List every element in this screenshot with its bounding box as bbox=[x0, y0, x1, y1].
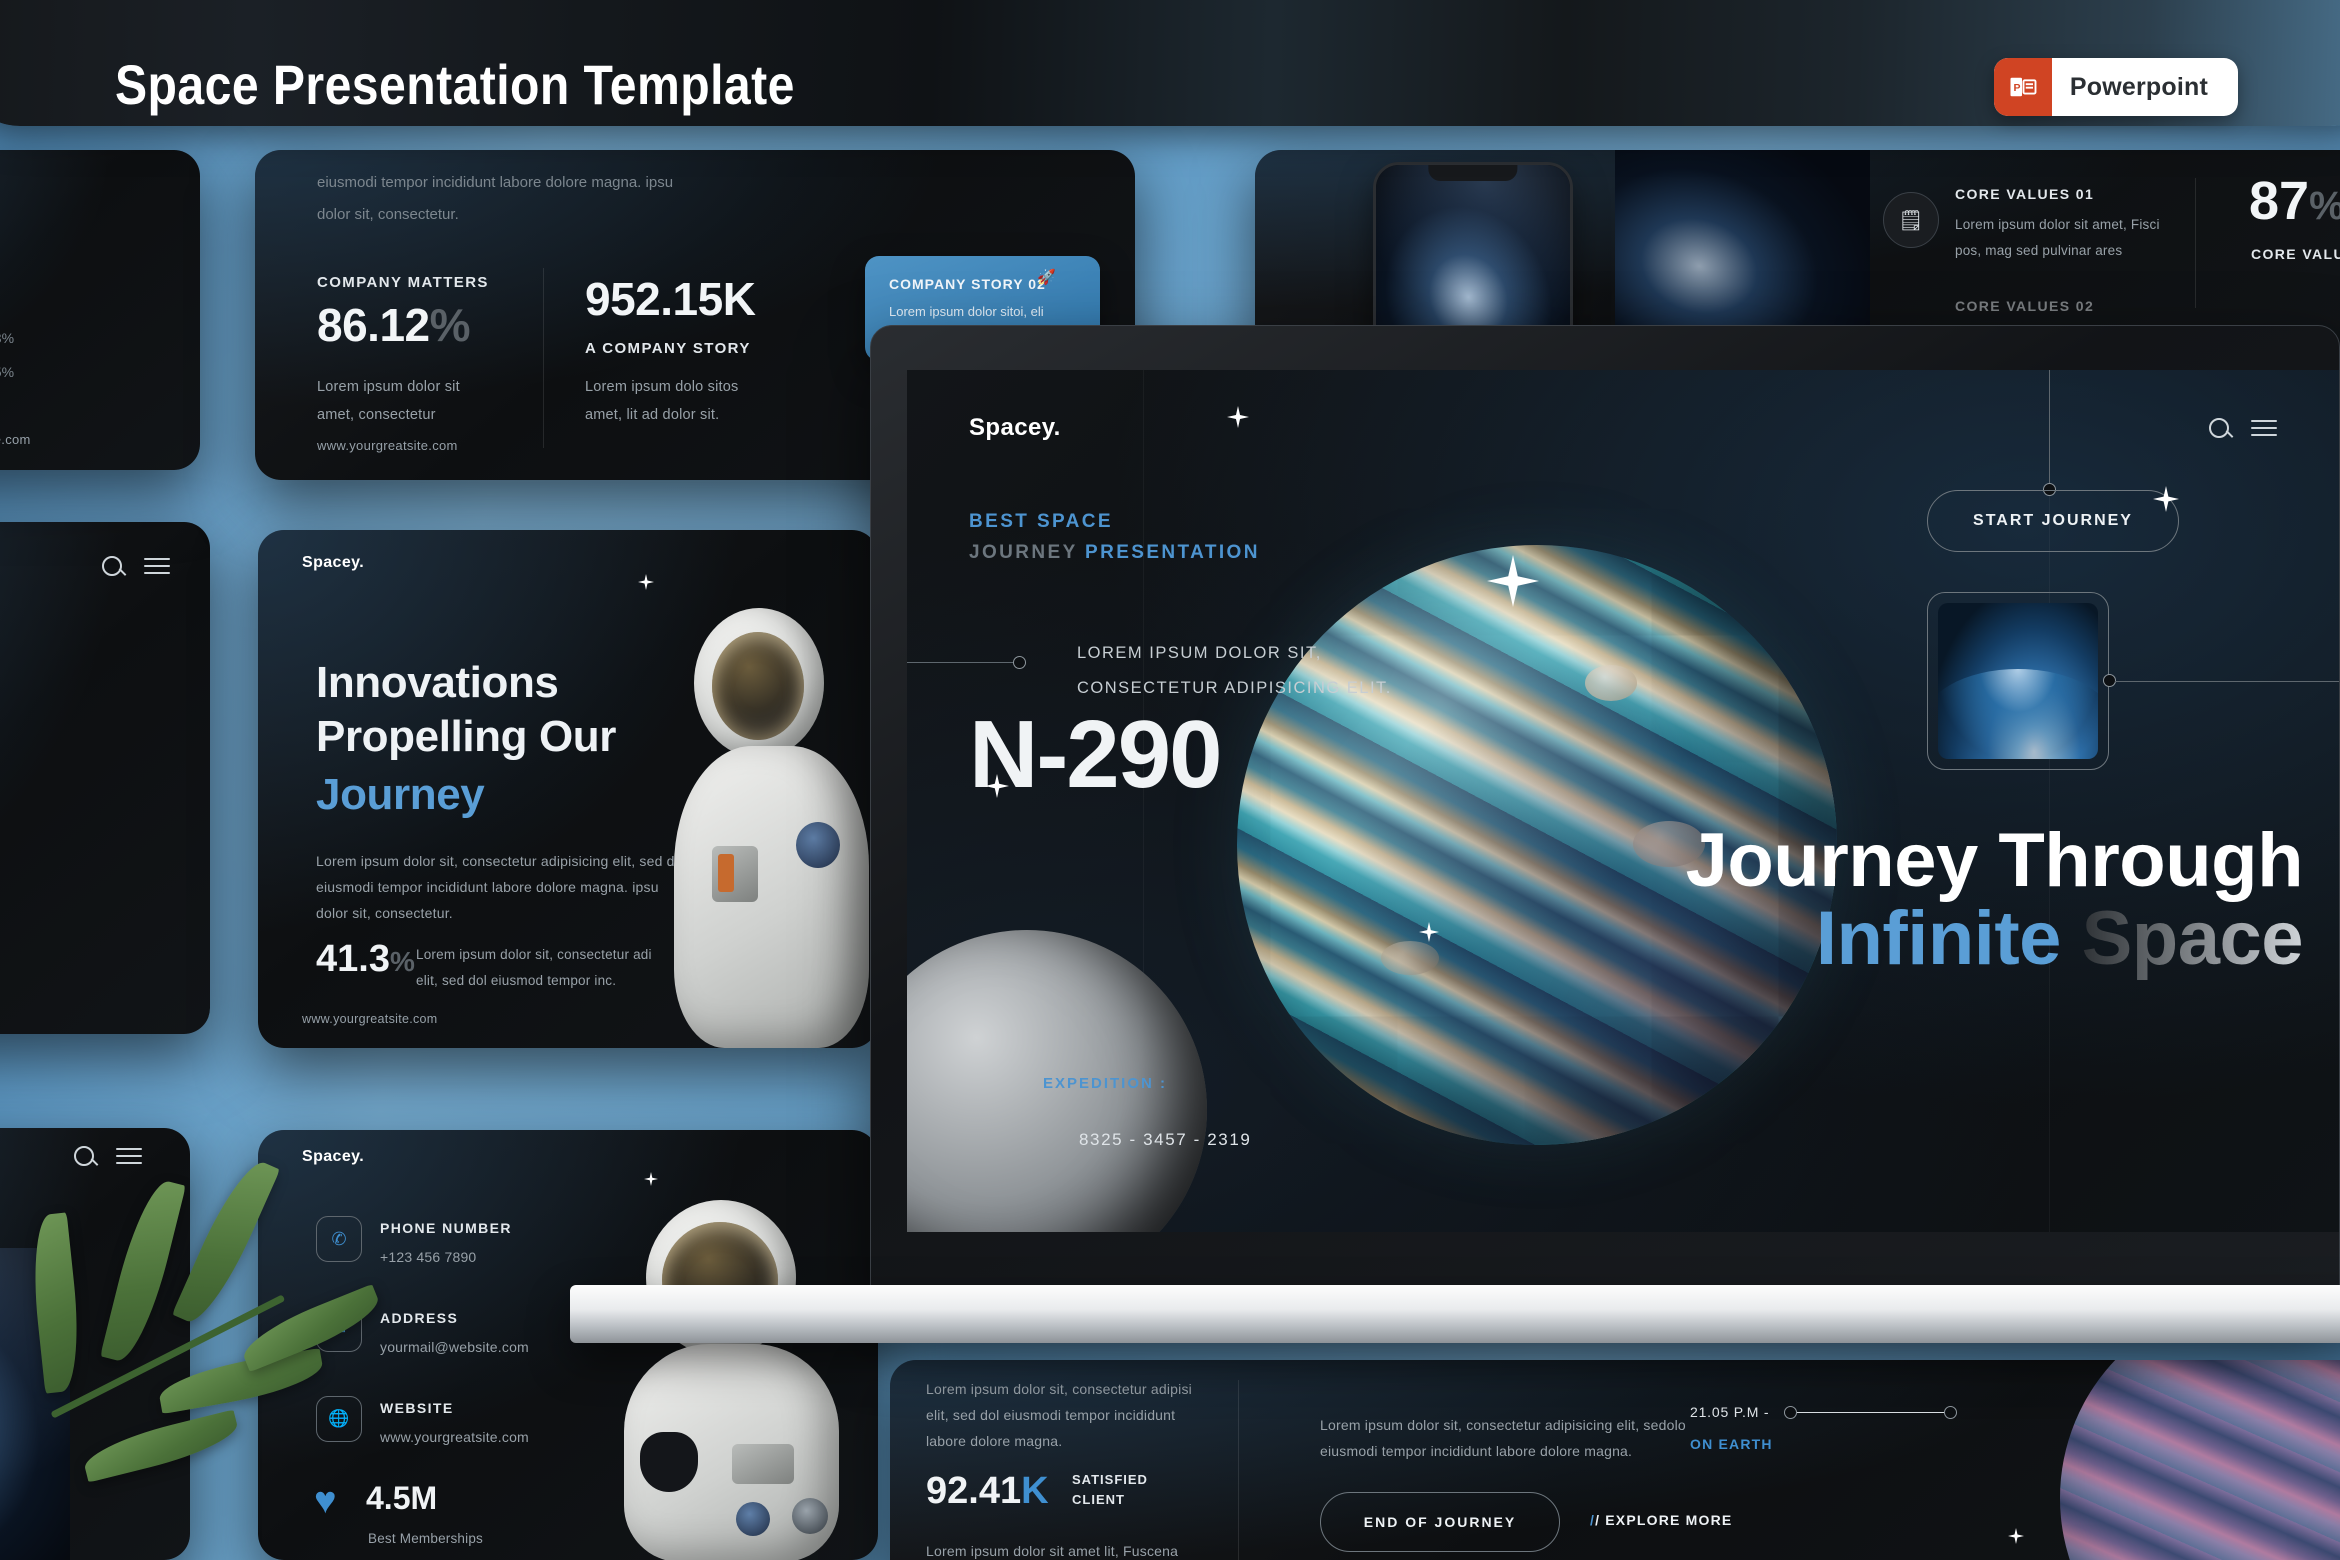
company-divider bbox=[543, 268, 544, 448]
hero-kicker-presentation: PRESENTATION bbox=[1085, 542, 1260, 563]
powerpoint-badge[interactable]: P Powerpoint bbox=[1994, 58, 2238, 116]
mission-bar-value-2: 65% bbox=[0, 364, 14, 380]
hero-lorem-line1: LOREM IPSUM DOLOR SIT, bbox=[1077, 636, 1392, 671]
company-story-sub-2: amet, lit ad dolor sit. bbox=[585, 402, 719, 430]
blue-card-sub-1: Lorem ipsum dolor sitoi, eli bbox=[889, 304, 1044, 319]
hamburger-menu-icon[interactable] bbox=[144, 558, 170, 574]
document-icon-circle[interactable]: 🗒 bbox=[1883, 192, 1939, 248]
innovations-title-2: Propelling Our bbox=[316, 712, 616, 762]
hero-kicker-line1: BEST SPACE bbox=[969, 506, 1260, 537]
company-website[interactable]: www.yourgreatsite.com bbox=[317, 438, 458, 453]
phone-notch bbox=[1428, 165, 1517, 181]
mission-bar-value-1: 83% bbox=[0, 330, 14, 346]
core-values-03-value: 87% bbox=[2249, 170, 2340, 232]
slide-gallery[interactable]: 🗒 CORE VALUES 01 Lorem ipsum dolor sit a… bbox=[1255, 150, 2340, 350]
company-story-sub-1: Lorem ipsum dolo sitos bbox=[585, 374, 739, 402]
end-left-lorem-3: labore dolore magna. bbox=[926, 1428, 1062, 1455]
innovations-title-1: Innovations bbox=[316, 658, 559, 708]
mail-icon-box: ✉ bbox=[316, 1306, 362, 1352]
hero-kicker-line2: JOURNEY PRESENTATION bbox=[969, 537, 1260, 568]
hero-lorem: LOREM IPSUM DOLOR SIT, CONSECTETUR ADIPI… bbox=[1077, 636, 1392, 705]
slide-mission[interactable]: orem ipsum dolor sit, 6.12K PANY MISSION… bbox=[0, 150, 200, 470]
company-matters-number: 86.12 bbox=[317, 299, 430, 351]
contact-label-2: WEBSITE bbox=[380, 1400, 454, 1416]
planet-pink-image bbox=[2060, 1360, 2340, 1560]
core-values-03-label: CORE VALUES 03 bbox=[2251, 246, 2340, 262]
innovations-stat-sub-2: elit, sed dol eiusmod tempor inc. bbox=[416, 968, 616, 994]
hero-title-infinite: Infinite bbox=[1816, 896, 2061, 981]
hero-slide[interactable]: Spacey. BEST SPACE JOURNEY PRESENTATION bbox=[907, 370, 2339, 1232]
star-icon bbox=[1419, 922, 1439, 942]
end-divider bbox=[1238, 1380, 1239, 1560]
galaxy-nav-icons[interactable] bbox=[74, 1146, 142, 1166]
hero-kicker: BEST SPACE JOURNEY PRESENTATION bbox=[969, 506, 1260, 569]
search-icon[interactable] bbox=[102, 556, 122, 576]
core-values-01-label: CORE VALUES 01 bbox=[1955, 186, 2094, 202]
rocket-icon: 🚀 bbox=[1037, 268, 1056, 286]
star-icon bbox=[638, 574, 654, 590]
core-divider bbox=[2195, 178, 2196, 308]
company-story-number: 952.15 bbox=[585, 273, 723, 325]
hero-expedition-label: EXPEDITION : bbox=[1043, 1075, 1167, 1092]
star-icon bbox=[1487, 555, 1539, 607]
end-of-journey-button[interactable]: END OF JOURNEY bbox=[1320, 1492, 1560, 1552]
hero-title: Journey Through Infinite Space bbox=[1686, 822, 2303, 977]
earth-thumbnail-card[interactable] bbox=[1927, 592, 2109, 770]
company-matters-label: COMPANY MATTERS bbox=[317, 274, 489, 291]
hero-logo: Spacey. bbox=[969, 414, 1061, 442]
innovations-stat: 41.3% bbox=[316, 938, 415, 981]
page-title: Space Presentation Template bbox=[115, 52, 795, 117]
profile-nav-icons[interactable] bbox=[102, 556, 170, 576]
innovations-stat-sub-1: Lorem ipsum dolor sit, consectetur adi bbox=[416, 942, 652, 968]
hero-title-line2: Infinite Space bbox=[1686, 900, 2303, 978]
company-matters-unit: % bbox=[430, 299, 470, 351]
end-stat-label-2: CLIENT bbox=[1072, 1492, 1125, 1507]
innovations-logo: Spacey. bbox=[302, 554, 364, 572]
star-icon bbox=[644, 1172, 658, 1186]
company-matters-sub-1: Lorem ipsum dolor sit bbox=[317, 374, 460, 402]
hero-panel-vline bbox=[2049, 370, 2050, 490]
end-time: 21.05 P.M - bbox=[1690, 1404, 1769, 1420]
contact-value-0: +123 456 7890 bbox=[380, 1244, 476, 1271]
slide-innovations[interactable]: Spacey. Innovations Propelling Our Journ… bbox=[258, 530, 878, 1048]
phone-mockup bbox=[1373, 162, 1573, 350]
powerpoint-label: Powerpoint bbox=[2070, 73, 2208, 102]
astronaut-image bbox=[656, 596, 878, 1048]
nebula-image bbox=[1615, 150, 1870, 350]
end-stat-label-1: SATISFIED bbox=[1072, 1472, 1148, 1487]
galaxy-image bbox=[0, 1248, 70, 1560]
phone-icon: ✆ bbox=[331, 1229, 346, 1250]
innovations-website[interactable]: www.yourgreatsite.com bbox=[302, 1012, 438, 1026]
start-journey-button[interactable]: START JOURNEY bbox=[1927, 490, 2179, 552]
slide-profile[interactable]: ne than Caleb e Explore Expert # ✉ bbox=[0, 522, 210, 1034]
hero-kicker-journey: JOURNEY bbox=[969, 542, 1077, 563]
slide-galaxy[interactable] bbox=[0, 1128, 190, 1560]
mail-icon: ✉ bbox=[332, 1319, 346, 1339]
slide-contact[interactable]: Spacey. ✆ PHONE NUMBER +123 456 7890 ✉ A… bbox=[258, 1130, 878, 1560]
end-connector-line bbox=[1790, 1412, 1950, 1413]
mission-website[interactable]: www.yourgreatsite.com bbox=[0, 432, 31, 447]
phone-icon-box: ✆ bbox=[316, 1216, 362, 1262]
explore-more-link[interactable]: // EXPLORE MORE bbox=[1590, 1512, 1732, 1528]
innovations-body-1: Lorem ipsum dolor sit, consectetur adipi… bbox=[316, 848, 686, 875]
contact-label-0: PHONE NUMBER bbox=[380, 1220, 512, 1236]
end-right-lorem-2: eiusmodi tempor incididunt labore dolore… bbox=[1320, 1438, 1632, 1465]
star-icon bbox=[2008, 1528, 2024, 1544]
company-story-label: A COMPANY STORY bbox=[585, 340, 751, 357]
galaxy-wallpaper bbox=[1376, 165, 1570, 350]
hero-panel-hline bbox=[2115, 681, 2339, 682]
hero-title-line1: Journey Through bbox=[1686, 822, 2303, 900]
contact-stat-label: Best Memberships bbox=[368, 1526, 483, 1552]
slide-end[interactable]: Lorem ipsum dolor sit, consectetur adipi… bbox=[890, 1360, 2340, 1560]
end-right-lorem-1: Lorem ipsum dolor sit, consectetur adipi… bbox=[1320, 1412, 1686, 1439]
core-values-01-sub-1: Lorem ipsum dolor sit amet, Fisci bbox=[1955, 212, 2160, 238]
core-values-03-number: 87 bbox=[2249, 171, 2309, 231]
contact-value-1: yourmail@website.com bbox=[380, 1334, 529, 1361]
star-icon bbox=[985, 774, 1009, 798]
hero-title-space: Space bbox=[2082, 896, 2303, 981]
globe-icon: 🌐 bbox=[328, 1409, 349, 1429]
contact-logo: Spacey. bbox=[302, 1148, 364, 1166]
search-icon[interactable] bbox=[74, 1146, 94, 1166]
laptop-screen[interactable]: Spacey. BEST SPACE JOURNEY PRESENTATION bbox=[907, 370, 2339, 1232]
company-top-lorem-2: dolor sit, consectetur. bbox=[317, 206, 459, 223]
end-stat-unit: K bbox=[1021, 1470, 1048, 1512]
search-icon[interactable] bbox=[2209, 418, 2229, 438]
core-values-03-unit: % bbox=[2309, 184, 2340, 228]
end-stat-number: 92.41 bbox=[926, 1470, 1021, 1512]
hero-connector-line bbox=[907, 662, 1019, 663]
svg-text:P: P bbox=[2013, 82, 2020, 94]
document-icon: 🗒 bbox=[1898, 208, 1923, 233]
innovations-stat-value: 41.3 bbox=[316, 938, 390, 980]
contact-stat-value: 4.5M bbox=[366, 1480, 437, 1517]
blue-card-title: COMPANY STORY 02 bbox=[889, 276, 1046, 292]
hero-nav-icons[interactable] bbox=[2209, 418, 2277, 438]
contact-label-1: ADDRESS bbox=[380, 1310, 458, 1326]
page-header: Space Presentation Template P Powerpoint bbox=[0, 0, 2340, 126]
innovations-stat-unit: % bbox=[390, 946, 415, 977]
laptop-base bbox=[570, 1285, 2340, 1343]
innovations-title-3: Journey bbox=[316, 770, 484, 820]
end-connector-dot-left bbox=[1784, 1406, 1797, 1419]
star-icon bbox=[2153, 486, 2179, 512]
earth-thumbnail bbox=[1938, 603, 2098, 759]
end-stat-value: 92.41K bbox=[926, 1470, 1049, 1513]
end-left-lorem-1: Lorem ipsum dolor sit, consectetur adipi… bbox=[926, 1376, 1192, 1403]
core-values-01-sub-2: pos, mag sed pulvinar ares bbox=[1955, 238, 2122, 264]
hero-connector-dot bbox=[1013, 656, 1026, 669]
contact-value-2: www.yourgreatsite.com bbox=[380, 1424, 529, 1451]
laptop-mockup: Spacey. BEST SPACE JOURNEY PRESENTATION bbox=[870, 325, 2340, 1335]
hero-expedition-value: 8325 - 3457 - 2319 bbox=[1079, 1130, 1251, 1150]
innovations-body-2: eiusmodi tempor incididunt labore dolore… bbox=[316, 874, 659, 901]
company-top-lorem-1: eiusmodi tempor incididunt labore dolore… bbox=[317, 174, 673, 191]
hamburger-menu-icon[interactable] bbox=[2251, 420, 2277, 436]
core-values-02-label: CORE VALUES 02 bbox=[1955, 298, 2094, 314]
explore-more-text: / EXPLORE MORE bbox=[1595, 1512, 1732, 1528]
company-story-value: 952.15K bbox=[585, 272, 755, 326]
hamburger-menu-icon[interactable] bbox=[116, 1148, 142, 1164]
company-story-unit: K bbox=[723, 273, 756, 325]
end-left-lorem-2: elit, sed dol eiusmodi tempor incididunt bbox=[926, 1402, 1175, 1429]
laptop-lid: Spacey. BEST SPACE JOURNEY PRESENTATION bbox=[870, 325, 2340, 1305]
globe-icon-box: 🌐 bbox=[316, 1396, 362, 1442]
end-stat-sub-1: Lorem ipsum dolor sit amet lit, Fuscena bbox=[926, 1538, 1178, 1560]
astronaut-image-2 bbox=[610, 1192, 860, 1560]
screenshot-root: ne than Caleb e Explore Expert # ✉ orem … bbox=[0, 0, 2340, 1560]
company-matters-sub-2: amet, consectetur bbox=[317, 402, 436, 430]
star-icon bbox=[1227, 406, 1249, 428]
innovations-body-3: dolor sit, consectetur. bbox=[316, 900, 453, 927]
heart-icon: ♥ bbox=[314, 1482, 337, 1520]
powerpoint-icon: P bbox=[1994, 58, 2052, 116]
end-connector-dot-right bbox=[1944, 1406, 1957, 1419]
end-place: ON EARTH bbox=[1690, 1436, 1773, 1452]
company-matters-value: 86.12% bbox=[317, 298, 470, 352]
